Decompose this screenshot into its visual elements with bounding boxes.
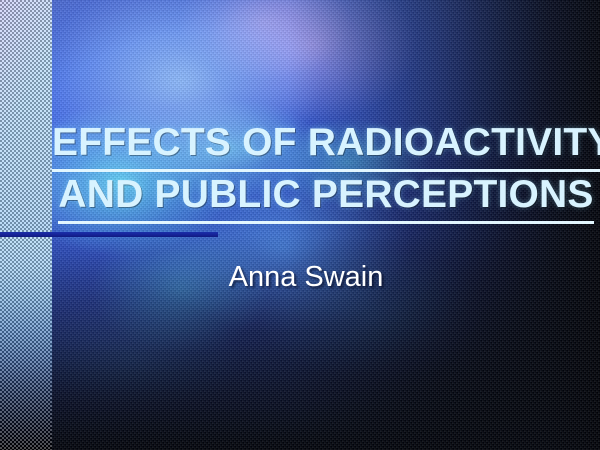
title-line-2-text: AND PUBLIC PERCEPTIONS	[58, 172, 593, 224]
slide-subtitle-author: Anna Swain	[52, 260, 560, 294]
sidebar-lower-dither	[0, 237, 52, 450]
slide-background-base	[0, 0, 600, 450]
title-line-1: EFFECTS OF RADIOACTIVITY	[52, 120, 600, 172]
slide-background-grain	[0, 0, 600, 450]
sidebar-upper-dither	[0, 0, 52, 233]
sidebar-band-lower	[0, 237, 52, 450]
sidebar-band-upper	[0, 0, 52, 233]
slide-background-dither	[0, 0, 600, 450]
slide-background-vignette	[0, 0, 600, 450]
title-line-2: AND PUBLIC PERCEPTIONS	[52, 172, 600, 224]
sidebar-band	[0, 0, 52, 450]
slide-title: EFFECTS OF RADIOACTIVITY AND PUBLIC PERC…	[52, 120, 600, 224]
accent-rule	[0, 232, 218, 237]
title-line-1-text: EFFECTS OF RADIOACTIVITY	[52, 120, 600, 172]
title-slide: EFFECTS OF RADIOACTIVITY AND PUBLIC PERC…	[0, 0, 600, 450]
slide-background-clouds	[0, 0, 600, 450]
